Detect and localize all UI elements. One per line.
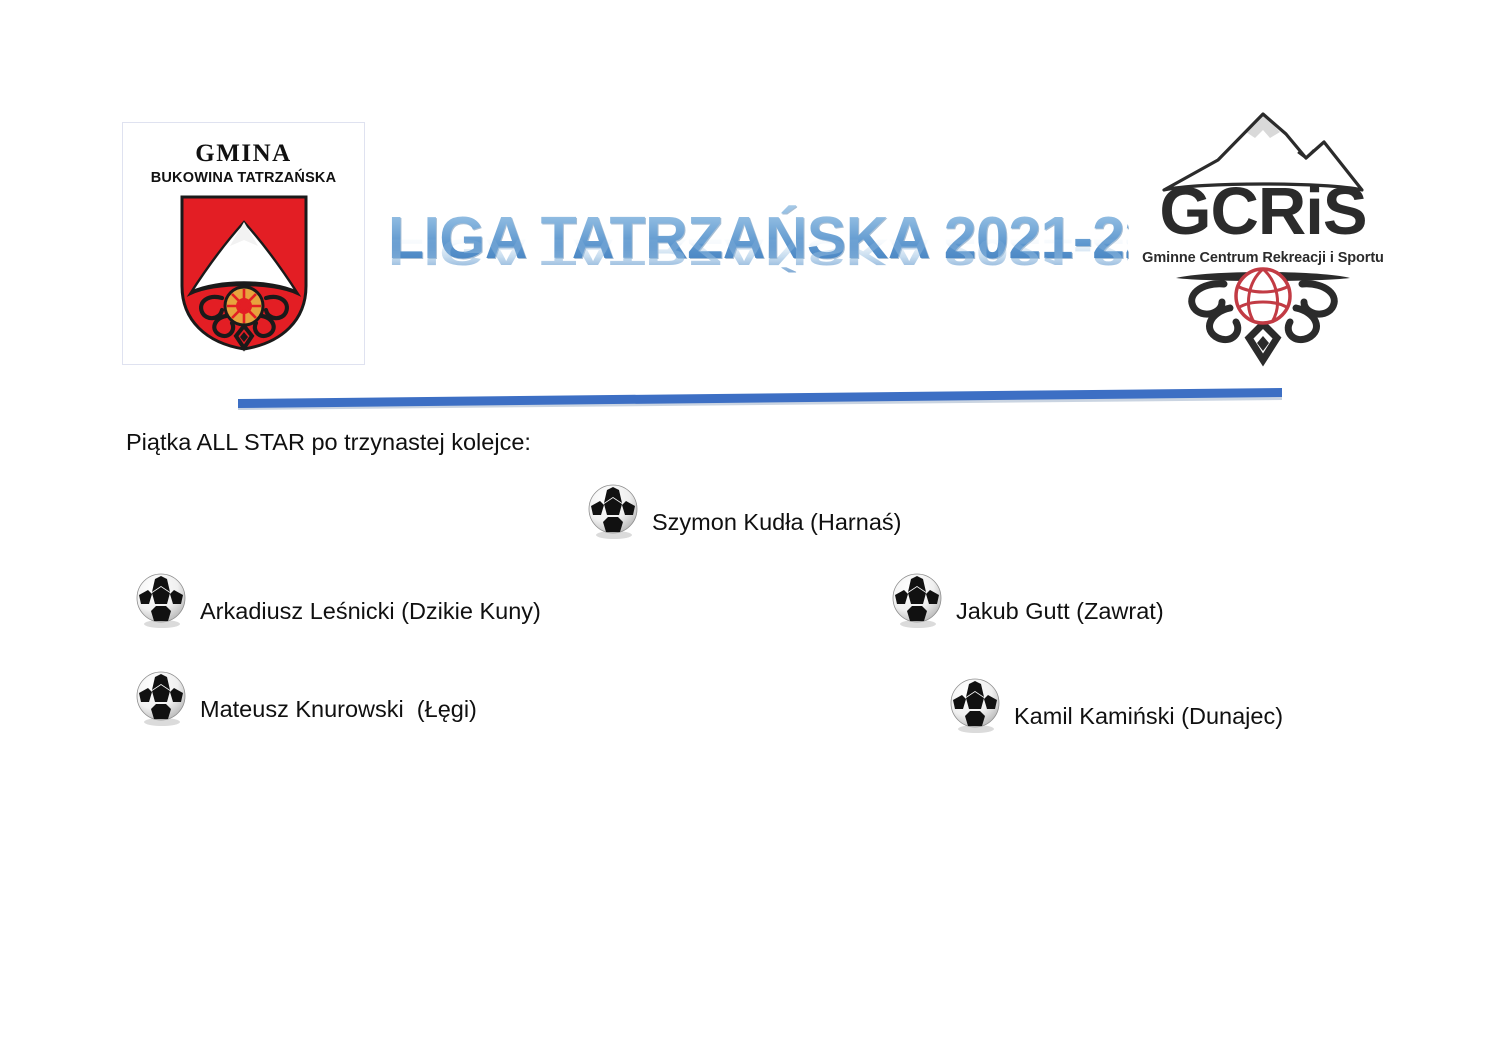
gmina-logo-title: GMINA [195,141,291,167]
lead-text: Piątka ALL STAR po trzynastej kolejce: [126,429,531,456]
gcris-ornament-icon [1138,264,1388,374]
gcris-logo: GCRiS Gminne Centrum Rekreacji i Sportu [1138,112,1388,368]
soccer-ball-icon [134,671,190,727]
gcris-wordmark: GCRiS [1138,178,1388,245]
soccer-ball-icon [890,573,946,629]
page-title-reflection: LIGA TATRZAŃSKA 2021-22 [388,231,1128,273]
player-name: Mateusz Knurowski (Łęgi) [200,696,477,727]
player-name: Kamil Kamiński (Dunajec) [1014,703,1283,734]
page-title: LIGA TATRZAŃSKA 2021-22 LIGA TATRZAŃSKA … [388,196,1128,316]
gmina-crest-icon [178,194,310,352]
list-item: Arkadiusz Leśnicki (Dzikie Kuny) [134,573,541,629]
soccer-ball-icon [586,484,642,540]
list-item: Jakub Gutt (Zawrat) [890,573,1164,629]
list-item: Kamil Kamiński (Dunajec) [948,678,1283,734]
list-item: Mateusz Knurowski (Łęgi) [134,671,477,727]
gcris-volleyball-icon [1236,269,1290,323]
soccer-ball-icon [134,573,190,629]
list-item: Szymon Kudła (Harnaś) [586,484,901,540]
divider [238,388,1282,410]
gmina-logo: GMINA BUKOWINA TATRZAŃSKA [123,123,364,364]
gmina-logo-frame: GMINA BUKOWINA TATRZAŃSKA [122,122,365,365]
gmina-logo-subtitle: BUKOWINA TATRZAŃSKA [151,170,337,186]
player-name: Szymon Kudła (Harnaś) [652,509,901,540]
player-name: Arkadiusz Leśnicki (Dzikie Kuny) [200,598,541,629]
player-name: Jakub Gutt (Zawrat) [956,598,1164,629]
soccer-ball-icon [948,678,1004,734]
